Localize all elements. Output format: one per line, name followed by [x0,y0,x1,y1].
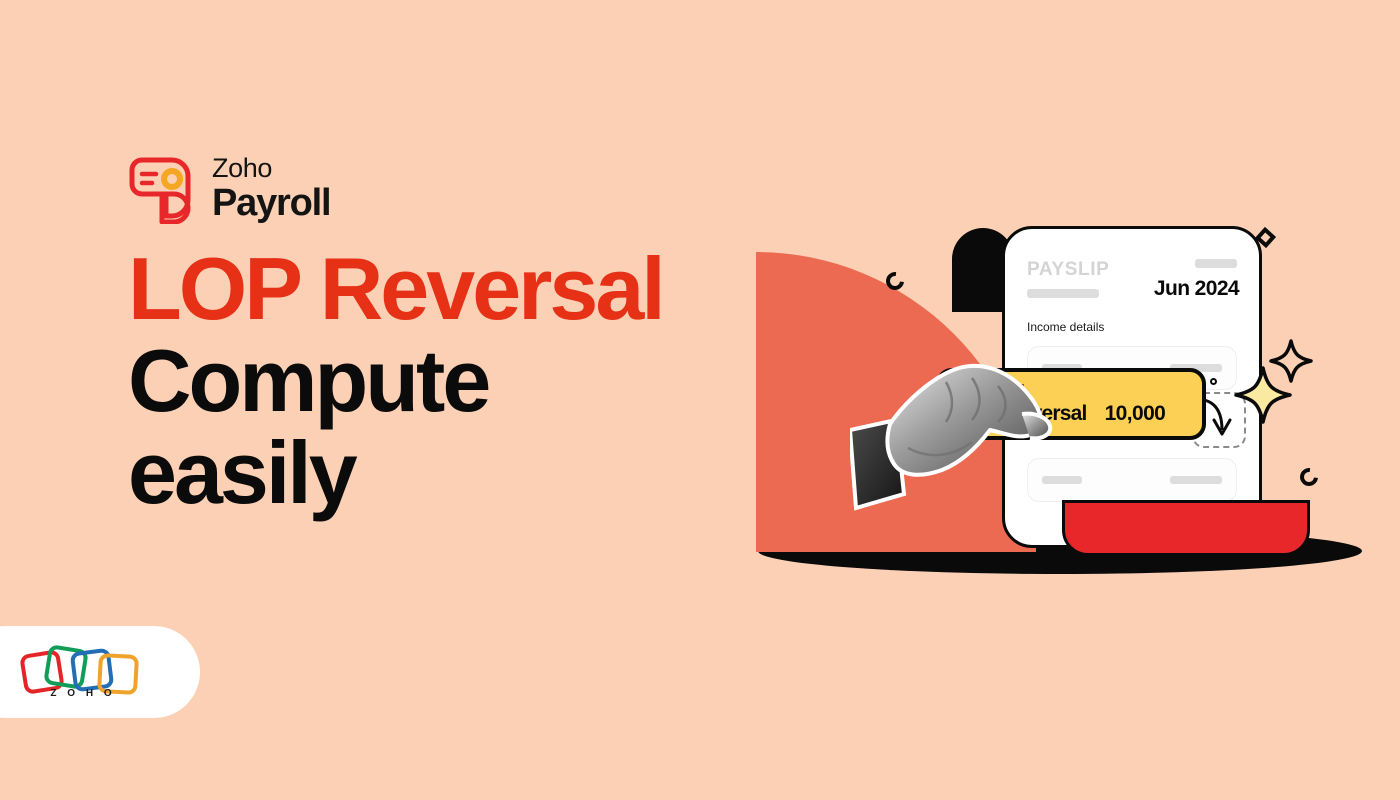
poster-canvas: Zoho Payroll LOP Reversal Compute easily… [0,0,1400,800]
hand-grabbing-icon [850,358,1060,518]
headline-line-2: Compute [128,338,748,424]
brand-zoho-text: Zoho [212,155,330,182]
payslip-month: Jun 2024 [1154,277,1239,301]
zoho-wordmark: Z O H O [38,688,128,699]
headline-line-3: easily [128,430,748,516]
highlight-value: 10,000 [1105,402,1166,426]
brand-wordmark: Zoho Payroll [212,155,330,222]
zoho-logo: Z O H O [22,644,138,700]
zoho-logo-pill: Z O H O [0,626,200,718]
payslip-subtitle-placeholder [1027,289,1099,298]
zoho-payroll-logo-icon [124,152,196,224]
payslip-topright-placeholder [1195,259,1237,268]
row-value-placeholder [1170,476,1222,484]
headline-line-1: LOP Reversal [128,246,748,332]
page-title: LOP Reversal Compute easily [128,246,748,517]
brand-product-text: Payroll [212,184,330,222]
tiny-circle-icon [1210,378,1217,385]
c-ring-icon-bottom [1296,464,1321,489]
payslip-section-label: Income details [1027,320,1237,334]
brand-lockup: Zoho Payroll [124,152,330,224]
hero-illustration: PAYSLIP Jun 2024 Income details [740,210,1380,580]
red-tray [1062,500,1310,556]
sparkle-small-icon [1268,338,1314,384]
